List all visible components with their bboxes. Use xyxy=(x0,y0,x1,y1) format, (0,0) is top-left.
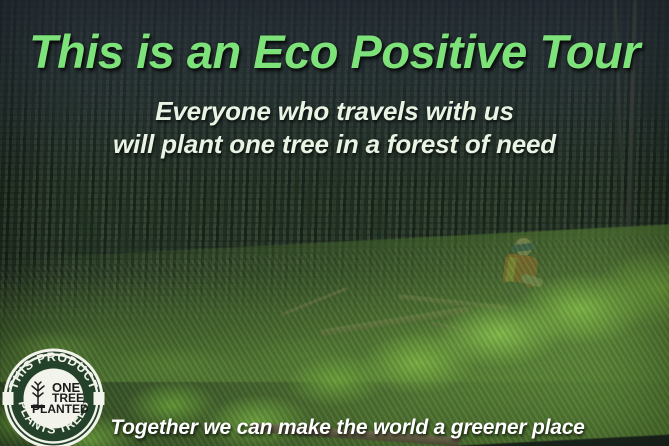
subtitle-line-2: will plant one tree in a forest of need xyxy=(0,128,669,161)
badge-notch-right xyxy=(94,392,105,405)
subtitle-line-1: Everyone who travels with us xyxy=(0,95,669,128)
one-tree-planted-badge: THIS PRODUCT PLANTS TREES ONE TREE PLANT… xyxy=(2,347,105,446)
badge-notch-left xyxy=(3,392,14,405)
poster-subtitle: Everyone who travels with us will plant … xyxy=(0,95,669,162)
eco-positive-tour-poster: This is an Eco Positive Tour Everyone wh… xyxy=(0,0,669,446)
badge-center-line-3: PLANTED xyxy=(32,402,89,416)
poster-headline: This is an Eco Positive Tour xyxy=(0,28,669,77)
